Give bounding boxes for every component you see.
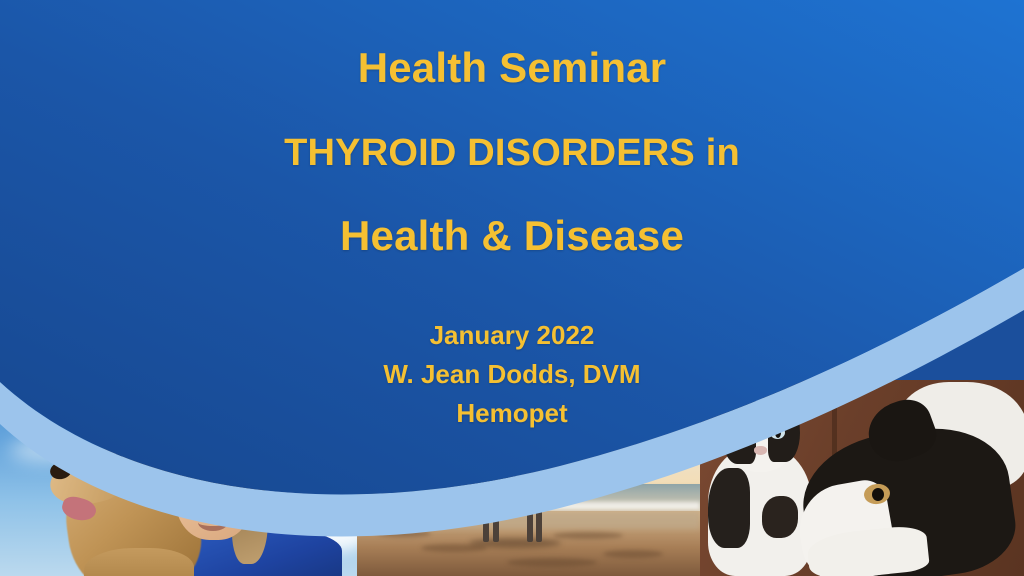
seminar-date: January 2022 bbox=[0, 316, 1024, 355]
title-line-2: THYROID DISORDERS in bbox=[0, 132, 1024, 175]
presentation-slide: Health Seminar THYROID DISORDERS in Heal… bbox=[0, 0, 1024, 576]
title-line-1: Health Seminar bbox=[0, 44, 1024, 92]
organization-name: Hemopet bbox=[0, 394, 1024, 433]
presenter-name: W. Jean Dodds, DVM bbox=[0, 355, 1024, 394]
title-line-3: Health & Disease bbox=[0, 212, 1024, 260]
presenter-block: January 2022 W. Jean Dodds, DVM Hemopet bbox=[0, 316, 1024, 433]
